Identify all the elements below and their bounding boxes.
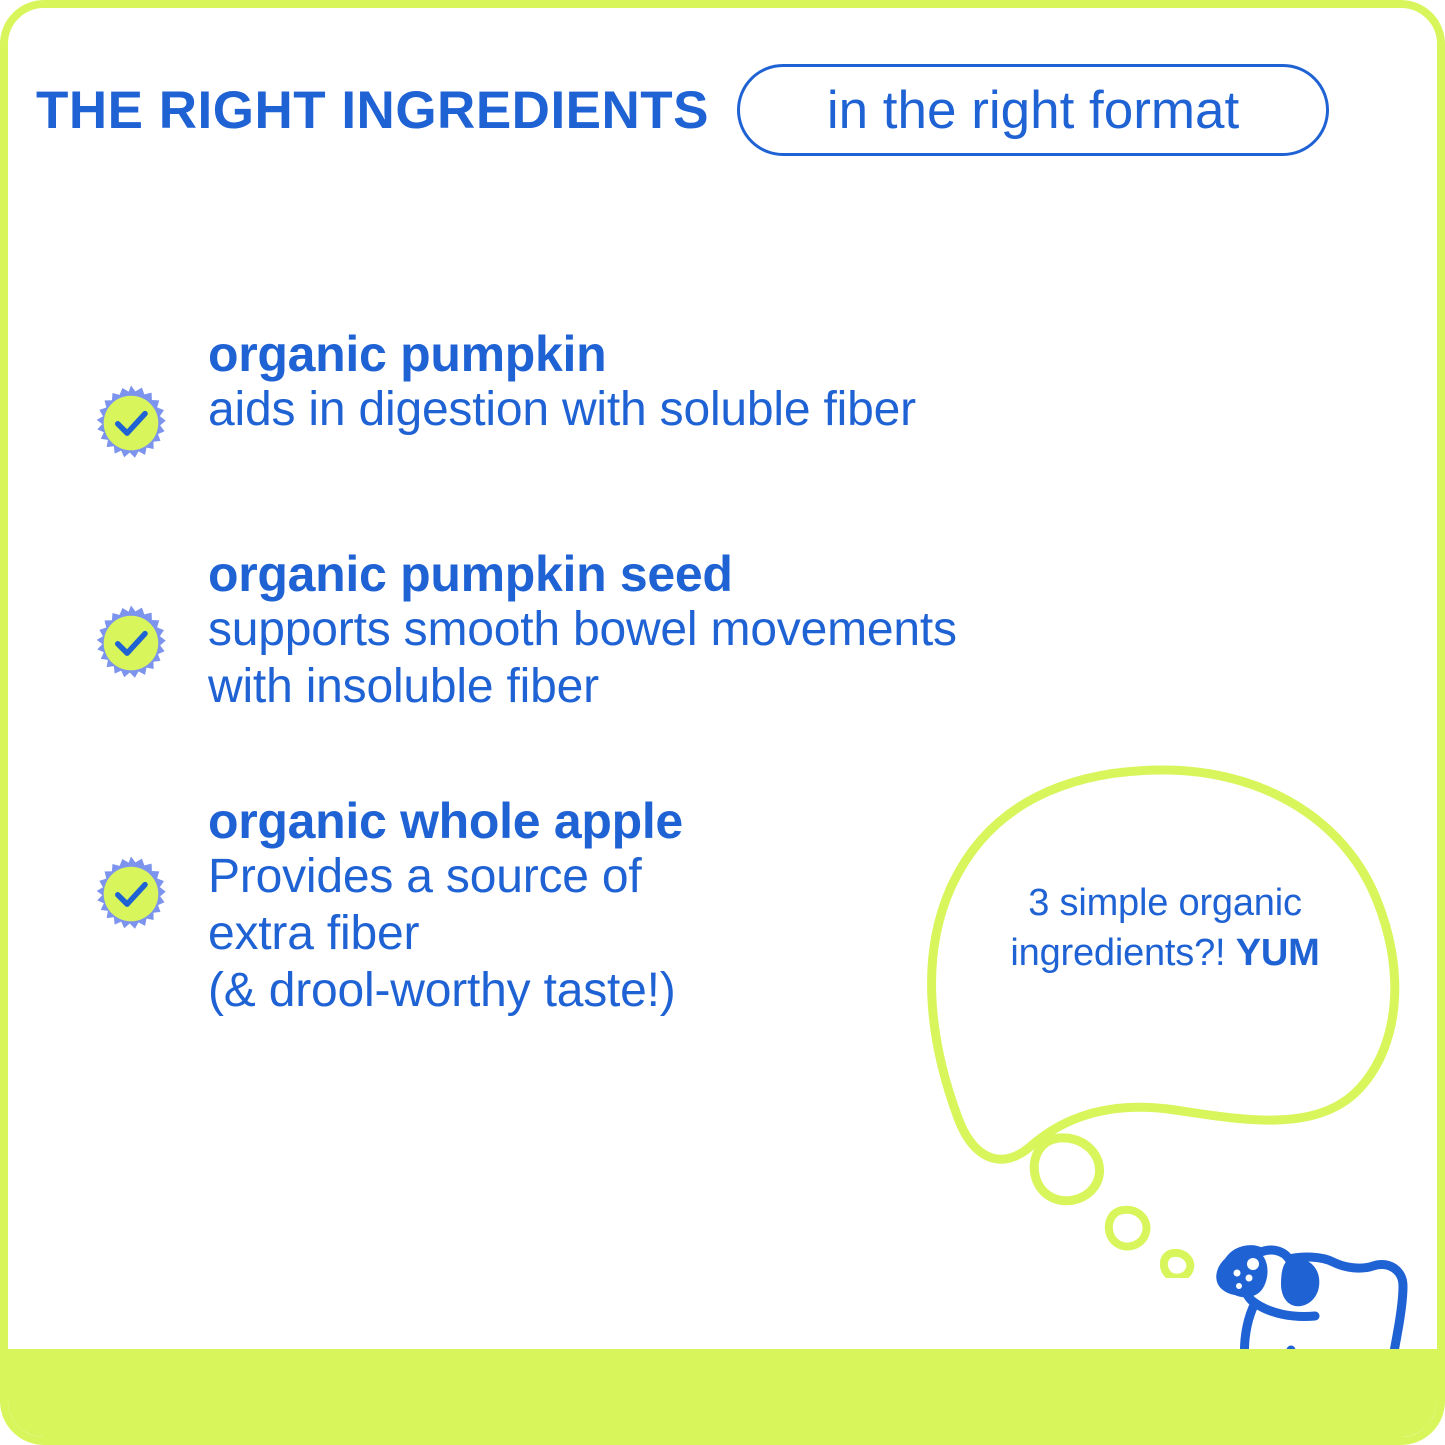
ingredient-description: aids in digestion with soluble fiber [208, 382, 916, 439]
list-item: organic pumpkin aids in digestion with s… [92, 326, 1397, 462]
ingredient-text: organic pumpkin seed supports smooth bow… [208, 546, 957, 715]
header-format-pill: in the right format [737, 64, 1329, 156]
ingredient-text: organic pumpkin aids in digestion with s… [208, 326, 916, 439]
ingredient-description: supports smooth bowel movements with ins… [208, 602, 957, 715]
ingredient-description: Provides a source of extra fiber (& droo… [208, 849, 683, 1019]
page-title: THE RIGHT INGREDIENTS [36, 84, 709, 137]
bubble-line-1: 3 simple organic [1028, 882, 1302, 924]
check-badge-icon [92, 855, 170, 933]
thought-bubble-text: 3 simple organic ingredients?! YUM [975, 878, 1355, 978]
check-badge-icon [92, 604, 170, 682]
ingredient-name: organic pumpkin [208, 326, 916, 382]
check-badge-icon [92, 384, 170, 462]
bubble-line-2-bold: YUM [1236, 932, 1320, 974]
bottom-green-band [8, 1349, 1437, 1437]
thought-bubble-icon: 3 simple organic ingredients?! YUM [913, 758, 1413, 1278]
ingredient-name: organic whole apple [208, 793, 683, 849]
ingredients-card: THE RIGHT INGREDIENTS in the right forma… [0, 0, 1445, 1445]
header: THE RIGHT INGREDIENTS in the right forma… [36, 60, 1423, 160]
bubble-line-2-plain: ingredients?! [1010, 932, 1235, 974]
header-pill-label: in the right format [827, 84, 1239, 137]
ingredient-name: organic pumpkin seed [208, 546, 957, 602]
list-item: organic pumpkin seed supports smooth bow… [92, 546, 1397, 715]
ingredient-text: organic whole apple Provides a source of… [208, 793, 683, 1019]
